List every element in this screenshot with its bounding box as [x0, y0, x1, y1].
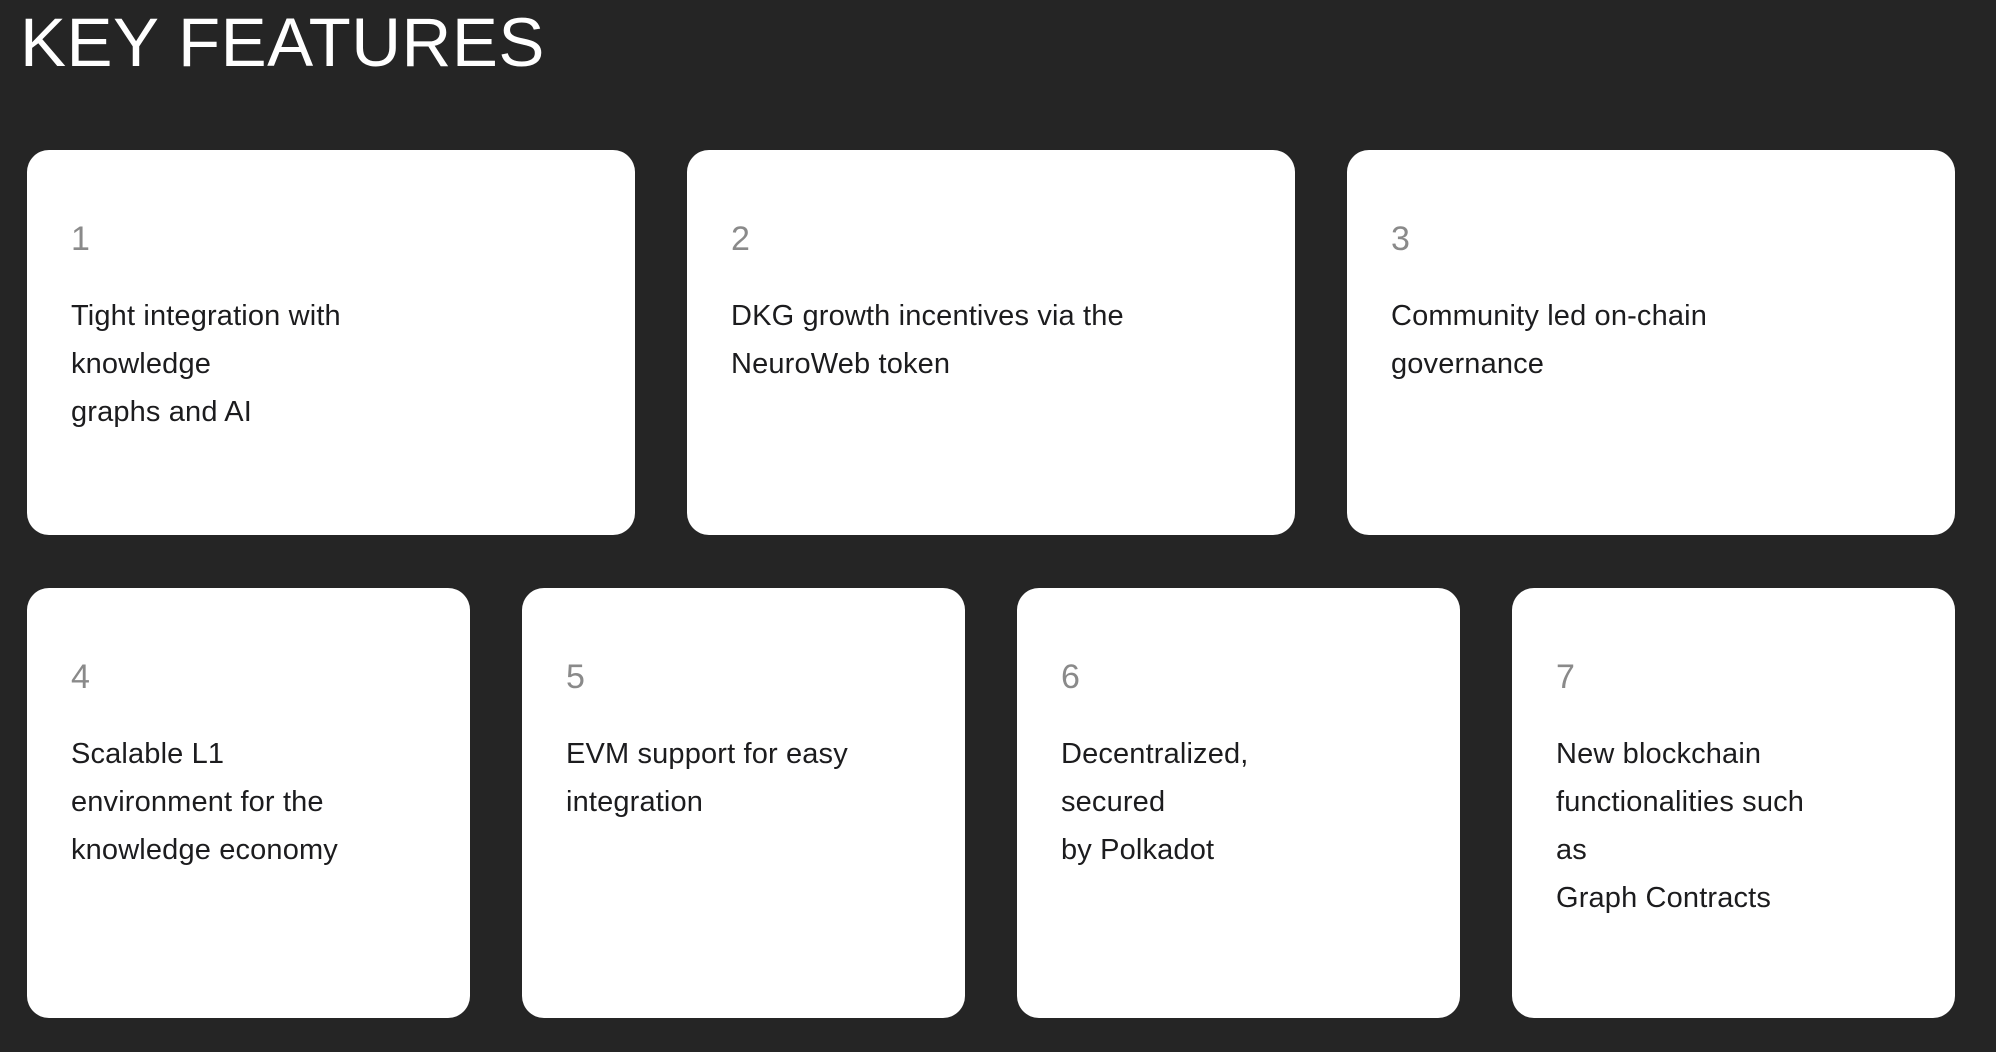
feature-card-number: 3: [1391, 220, 1911, 258]
feature-card-number: 5: [566, 658, 921, 696]
feature-card-grid: 1 Tight integration with knowledge graph…: [0, 150, 1996, 1018]
feature-row-2: 4 Scalable L1 environment for the knowle…: [0, 588, 1996, 1018]
feature-card-2[interactable]: 2 DKG growth incentives via the NeuroWeb…: [687, 150, 1295, 535]
feature-card-7[interactable]: 7 New blockchain functionalities such as…: [1512, 588, 1955, 1018]
feature-card-number: 6: [1061, 658, 1416, 696]
feature-card-5[interactable]: 5 EVM support for easy integration: [522, 588, 965, 1018]
feature-card-text: New blockchain functionalities such as G…: [1556, 730, 1911, 922]
feature-card-text: Community led on-chain governance: [1391, 292, 1911, 388]
feature-card-text: Decentralized, secured by Polkadot: [1061, 730, 1416, 874]
feature-card-text: EVM support for easy integration: [566, 730, 921, 826]
feature-card-6[interactable]: 6 Decentralized, secured by Polkadot: [1017, 588, 1460, 1018]
feature-card-number: 2: [731, 220, 1251, 258]
feature-card-4[interactable]: 4 Scalable L1 environment for the knowle…: [27, 588, 470, 1018]
feature-row-1: 1 Tight integration with knowledge graph…: [0, 150, 1996, 535]
feature-card-text: Scalable L1 environment for the knowledg…: [71, 730, 426, 874]
feature-card-number: 7: [1556, 658, 1911, 696]
feature-card-text: DKG growth incentives via the NeuroWeb t…: [731, 292, 1251, 388]
feature-card-text: Tight integration with knowledge graphs …: [71, 292, 591, 436]
key-features-section: KEY FEATURES 1 Tight integration with kn…: [0, 0, 1996, 1052]
feature-card-3[interactable]: 3 Community led on-chain governance: [1347, 150, 1955, 535]
feature-card-number: 1: [71, 220, 591, 258]
feature-card-number: 4: [71, 658, 426, 696]
page-title: KEY FEATURES: [20, 2, 545, 84]
feature-card-1[interactable]: 1 Tight integration with knowledge graph…: [27, 150, 635, 535]
